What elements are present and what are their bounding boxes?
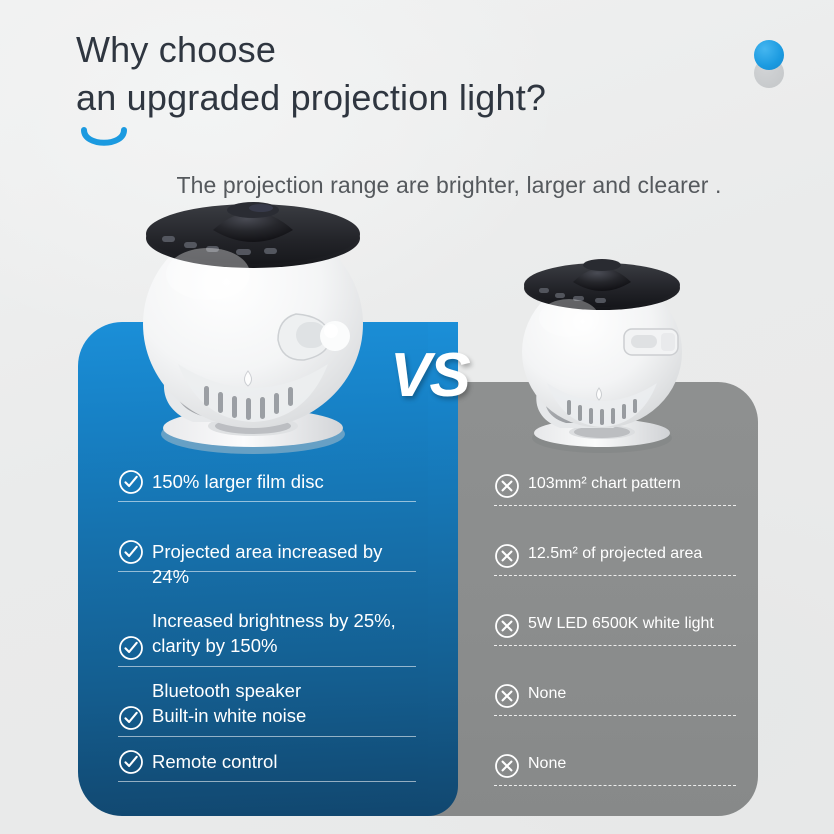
row-divider bbox=[494, 715, 736, 716]
feature-list-right: 103mm² chart pattern 12.5m² of projected… bbox=[494, 472, 744, 822]
feature-row: Remote control bbox=[118, 748, 418, 818]
circle-x-icon bbox=[494, 683, 520, 709]
row-divider bbox=[494, 645, 736, 646]
circle-x-icon bbox=[494, 543, 520, 569]
vs-label: VS bbox=[390, 340, 469, 411]
feature-label: 150% larger film disc bbox=[152, 468, 418, 494]
feature-row: None bbox=[494, 682, 744, 752]
product-image-upgraded bbox=[118, 196, 388, 461]
infographic-canvas: Why choose an upgraded projection light?… bbox=[0, 0, 834, 834]
smile-arc-icon bbox=[80, 126, 128, 154]
feature-list-left: 150% larger film disc Projected area inc… bbox=[118, 468, 418, 818]
feature-row: Bluetooth speaker Built-in white noise bbox=[118, 678, 418, 748]
circle-check-icon bbox=[118, 635, 144, 661]
decorative-dots bbox=[748, 40, 796, 92]
feature-label: 12.5m² of projected area bbox=[528, 542, 744, 565]
feature-row: Projected area increased by 24% bbox=[118, 538, 418, 608]
feature-row: 12.5m² of projected area bbox=[494, 542, 744, 612]
feature-row: Increased brightness by 25%, clarity by … bbox=[118, 608, 418, 678]
row-divider bbox=[118, 781, 416, 782]
row-divider bbox=[118, 666, 416, 667]
feature-label: Increased brightness by 25%, clarity by … bbox=[152, 608, 418, 658]
feature-row: 5W LED 6500K white light bbox=[494, 612, 744, 682]
circle-check-icon bbox=[118, 539, 144, 565]
circle-check-icon bbox=[118, 749, 144, 775]
blue-dot-icon bbox=[754, 40, 784, 70]
feature-row: None bbox=[494, 752, 744, 822]
feature-row: 103mm² chart pattern bbox=[494, 472, 744, 542]
page-title: Why choose an upgraded projection light? bbox=[76, 26, 716, 122]
feature-label: Bluetooth speaker Built-in white noise bbox=[152, 678, 418, 728]
feature-label: None bbox=[528, 752, 744, 775]
feature-label: Projected area increased by 24% bbox=[152, 538, 418, 589]
feature-label: None bbox=[528, 682, 744, 705]
circle-x-icon bbox=[494, 613, 520, 639]
feature-label: Remote control bbox=[152, 748, 418, 774]
row-divider bbox=[118, 571, 416, 572]
circle-x-icon bbox=[494, 753, 520, 779]
feature-row: 150% larger film disc bbox=[118, 468, 418, 538]
circle-check-icon bbox=[118, 705, 144, 731]
row-divider bbox=[494, 505, 736, 506]
circle-x-icon bbox=[494, 473, 520, 499]
row-divider bbox=[494, 575, 736, 576]
circle-check-icon bbox=[118, 469, 144, 495]
product-image-standard bbox=[503, 252, 701, 457]
row-divider bbox=[118, 501, 416, 502]
feature-label: 103mm² chart pattern bbox=[528, 472, 744, 495]
row-divider bbox=[494, 785, 736, 786]
feature-label: 5W LED 6500K white light bbox=[528, 612, 744, 635]
row-divider bbox=[118, 736, 416, 737]
